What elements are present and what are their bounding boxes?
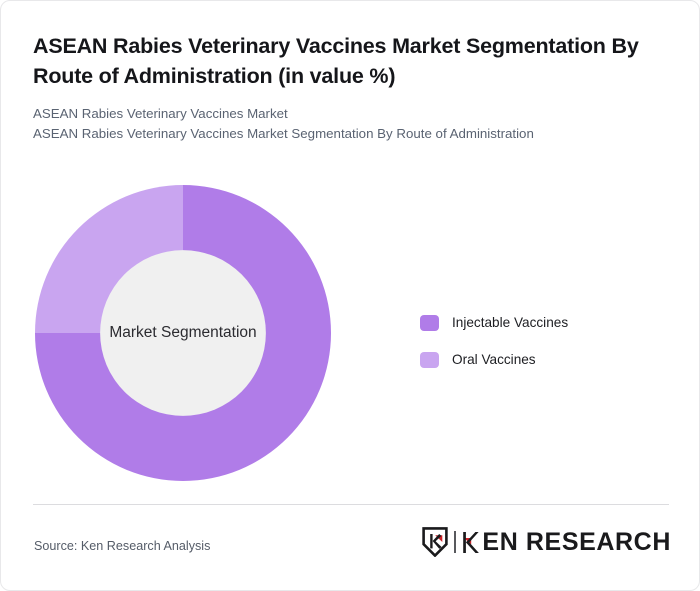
page-title: ASEAN Rabies Veterinary Vaccines Market … bbox=[33, 31, 669, 91]
legend-item-injectable-vaccines[interactable]: Injectable Vaccines bbox=[420, 304, 568, 341]
chart-header: ASEAN Rabies Veterinary Vaccines Market … bbox=[33, 31, 669, 144]
legend-swatch-injectable-vaccines bbox=[420, 315, 439, 331]
footer-divider bbox=[33, 504, 669, 505]
legend-label-oral-vaccines: Oral Vaccines bbox=[452, 352, 536, 367]
source-note: Source: Ken Research Analysis bbox=[34, 539, 210, 553]
donut-hole bbox=[100, 250, 266, 416]
donut-chart: Market Segmentation bbox=[35, 185, 331, 481]
logo-divider bbox=[454, 531, 456, 553]
legend-swatch-oral-vaccines bbox=[420, 352, 439, 368]
legend-label-injectable-vaccines: Injectable Vaccines bbox=[452, 315, 568, 330]
ken-research-logo: EN RESEARCH bbox=[422, 525, 671, 559]
chart-card: ASEAN Rabies Veterinary Vaccines Market … bbox=[0, 0, 700, 591]
chart-subtitle-primary: ASEAN Rabies Veterinary Vaccines Market bbox=[33, 104, 669, 124]
donut-svg bbox=[35, 185, 331, 481]
subtitle-block: ASEAN Rabies Veterinary Vaccines Market … bbox=[33, 104, 669, 144]
logo-words: EN RESEARCH bbox=[482, 530, 671, 555]
logo-wordmark: EN RESEARCH bbox=[463, 530, 671, 555]
logo-letter-k-icon bbox=[463, 531, 482, 554]
shield-icon bbox=[422, 527, 448, 557]
chart-plot-area: Market Segmentation Injectable Vaccines … bbox=[1, 161, 700, 501]
legend-item-oral-vaccines[interactable]: Oral Vaccines bbox=[420, 341, 568, 378]
chart-subtitle-secondary: ASEAN Rabies Veterinary Vaccines Market … bbox=[33, 124, 669, 144]
chart-legend: Injectable Vaccines Oral Vaccines bbox=[420, 304, 568, 378]
